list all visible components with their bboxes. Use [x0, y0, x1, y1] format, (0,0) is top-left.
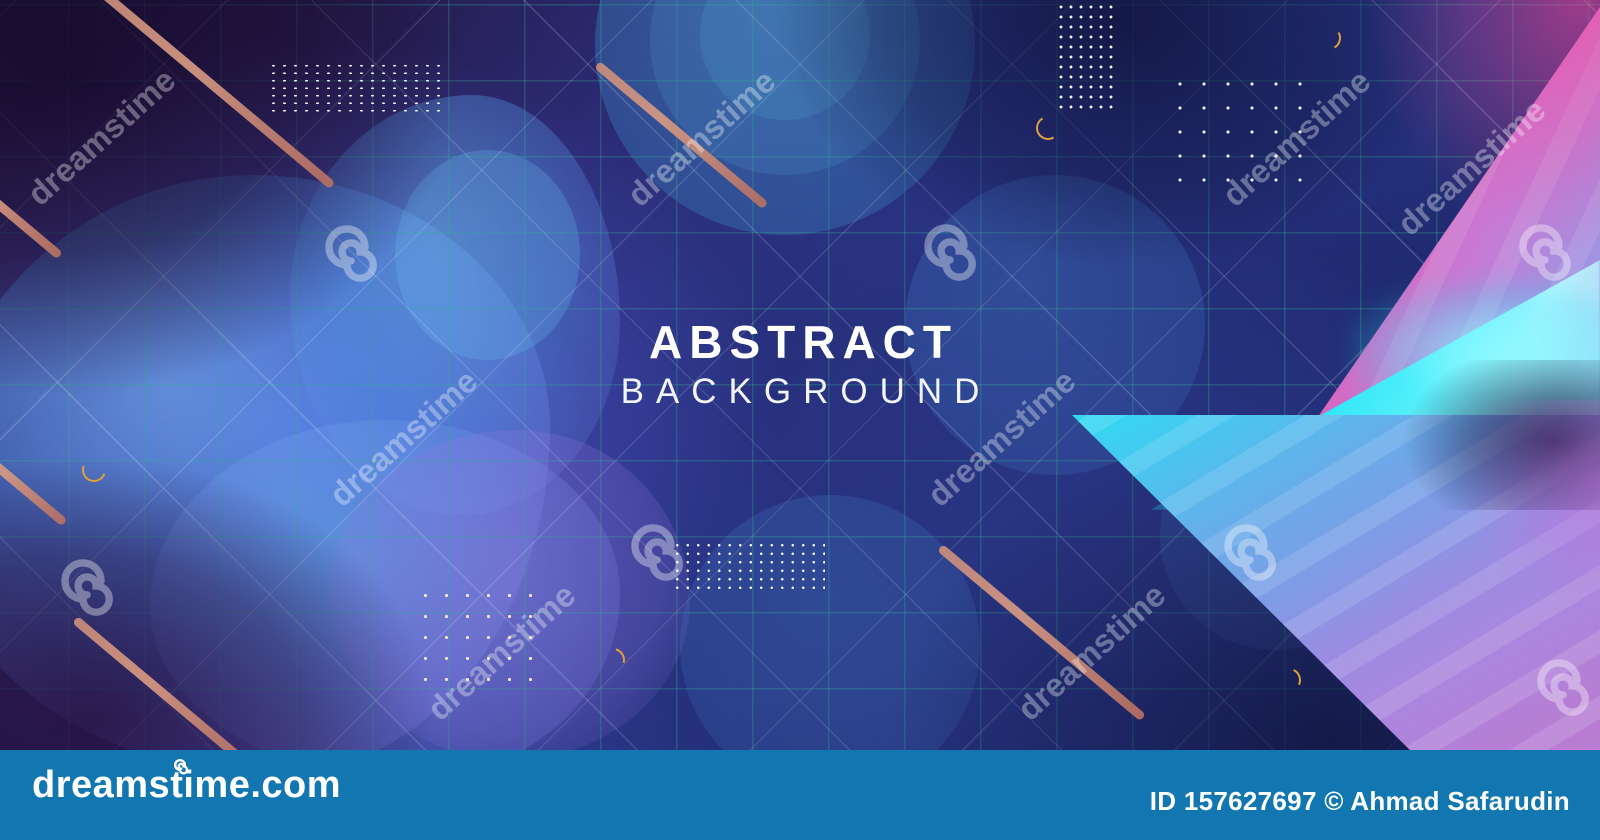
watermark-text: dreamstime: [1010, 576, 1173, 728]
image-credit: ID 157627697 © Ahmad Safarudin: [1150, 786, 1570, 817]
watermark-text: dreamstime: [1215, 62, 1378, 214]
watermark-spiral-icon: [42, 540, 124, 627]
watermark-text: dreamstime: [420, 576, 583, 728]
abstract-artwork: ABSTRACT BACKGROUND dreamstime dreamstim…: [0, 0, 1600, 750]
watermark-text: dreamstime: [20, 61, 183, 213]
watermark-layer: dreamstime dreamstime dreamstime: [0, 0, 1600, 750]
watermark-spiral-icon: [1500, 205, 1582, 292]
stock-photo-footer: dreamstime.com ID 157627697 © Ahmad Safa…: [0, 750, 1600, 840]
watermark-spiral-icon: [1205, 505, 1287, 592]
watermark-spiral-icon: [612, 505, 694, 592]
watermark-text: dreamstime: [620, 62, 783, 214]
spiral-icon: [169, 754, 191, 781]
watermark-spiral-icon: [905, 205, 987, 292]
watermark-spiral-icon: [306, 206, 388, 293]
dreamstime-logo[interactable]: dreamstime.com: [32, 766, 341, 804]
stock-photo-canvas: ABSTRACT BACKGROUND dreamstime dreamstim…: [0, 0, 1600, 840]
watermark-spiral-icon: [1518, 640, 1600, 727]
watermark-text: dreamstime: [920, 362, 1083, 514]
watermark-text: dreamstime: [322, 362, 485, 514]
